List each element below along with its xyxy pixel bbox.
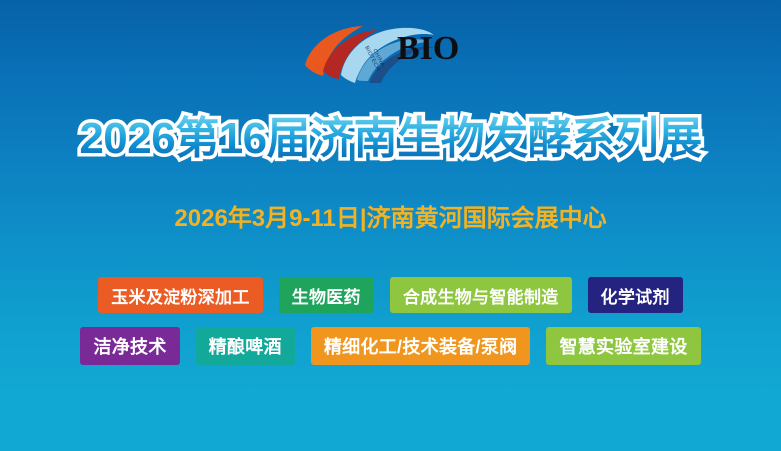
subtitle-container: 2026年3月9-11日|济南黄河国际会展中心	[0, 198, 781, 232]
tag-biomedicine[interactable]: 生物医药	[279, 277, 374, 313]
tag-cleanroom-tech[interactable]: 洁净技术	[80, 327, 179, 365]
title-container: 2026第16届济南生物发酵系列展 2026第16届济南生物发酵系列展	[0, 108, 781, 170]
tag-smart-laboratory[interactable]: 智慧实验室建设	[546, 327, 700, 365]
bio-logo-icon: BIOTECH CHINA BIO	[301, 21, 481, 85]
tag-craft-beer[interactable]: 精酿啤酒	[196, 327, 295, 365]
page-title-fill: 2026第16届济南生物发酵系列展	[79, 114, 701, 163]
tag-row-1: 玉米及淀粉深加工 生物医药 合成生物与智能制造 化学试剂	[0, 277, 781, 313]
tag-row-2: 洁净技术 精酿啤酒 精细化工/技术装备/泵阀 智慧实验室建设	[0, 327, 781, 365]
event-date-venue: 2026年3月9-11日|济南黄河国际会展中心	[174, 198, 606, 233]
page-title: 2026第16届济南生物发酵系列展 2026第16届济南生物发酵系列展	[79, 117, 701, 161]
tag-corn-starch[interactable]: 玉米及淀粉深加工	[98, 277, 262, 313]
exhibition-banner: BIOTECH CHINA BIO 2026第16届济南生物发酵系列展 2026…	[0, 0, 781, 451]
logo-wordmark: BIO	[397, 30, 459, 67]
tag-synthetic-biology[interactable]: 合成生物与智能制造	[390, 277, 572, 313]
bio-logo: BIOTECH CHINA BIO	[301, 21, 481, 85]
tag-fine-chemicals[interactable]: 精细化工/技术装备/泵阀	[311, 327, 531, 365]
tag-chemical-reagents[interactable]: 化学试剂	[588, 277, 683, 313]
logo-container: BIOTECH CHINA BIO	[0, 18, 781, 88]
